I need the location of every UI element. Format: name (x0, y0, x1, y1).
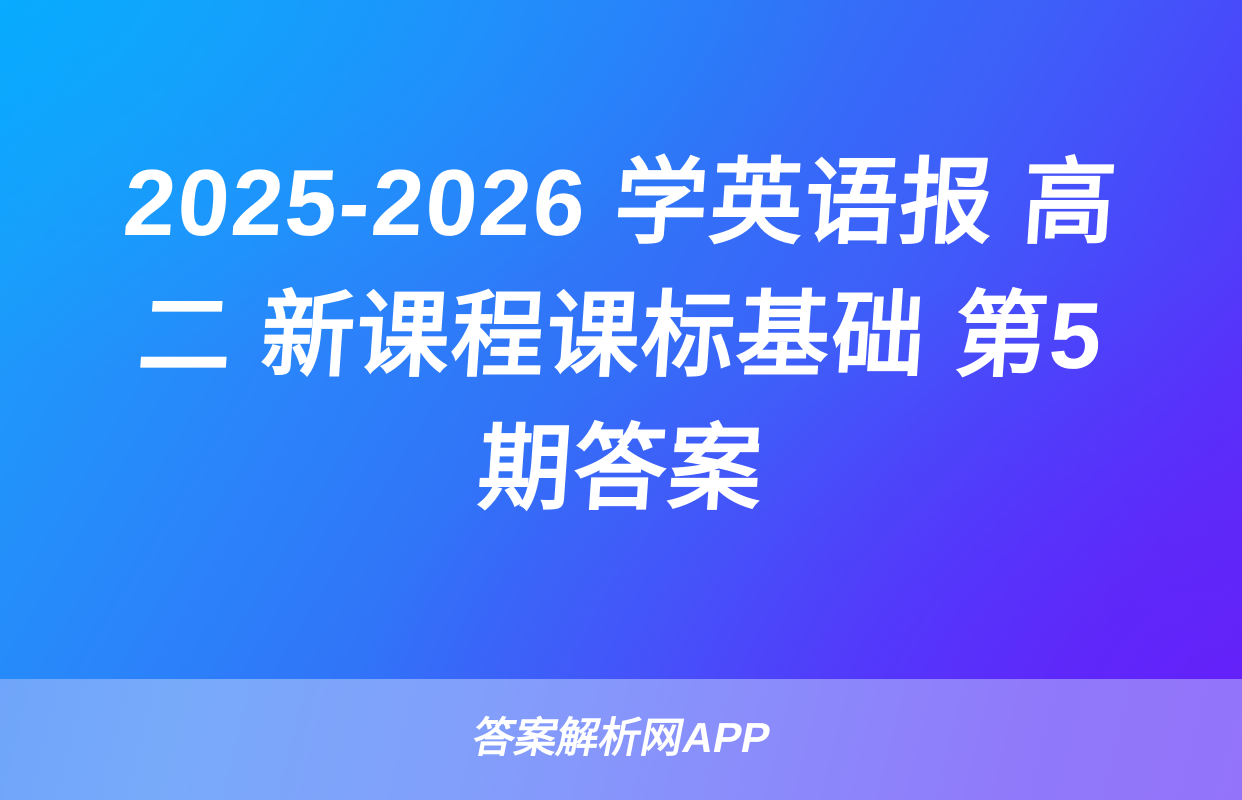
footer-watermark-band: 答案解析网APP (0, 679, 1242, 800)
page-title-line-1: 2025-2026 学英语报 高 (67, 136, 1175, 269)
poster-title-block: 2025-2026 学英语报 高 二 新课程课标基础 第5 期答案 (0, 0, 1242, 679)
poster-root: 2025-2026 学英语报 高 二 新课程课标基础 第5 期答案 答案解析网A… (0, 0, 1242, 800)
app-watermark-label: 答案解析网APP (468, 717, 773, 763)
page-title-line-2: 二 新课程课标基础 第5 (67, 269, 1175, 402)
page-title-line-3: 期答案 (67, 402, 1175, 535)
